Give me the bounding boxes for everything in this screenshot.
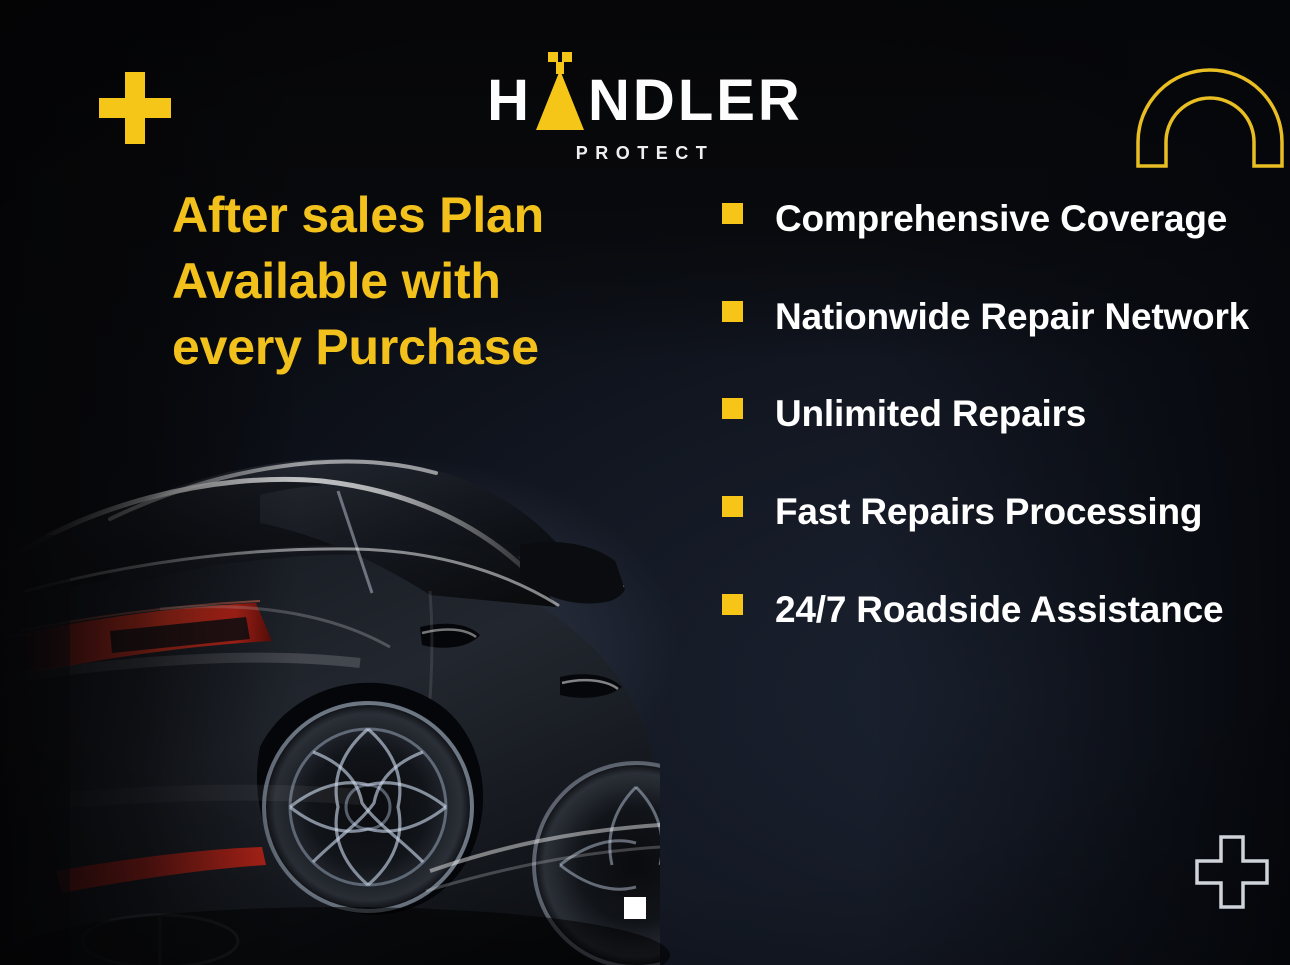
list-item: Nationwide Repair Network (722, 290, 1252, 344)
feature-label: Unlimited Repairs (775, 387, 1086, 441)
feature-label: Fast Repairs Processing (775, 485, 1202, 539)
list-item: Comprehensive Coverage (722, 192, 1252, 246)
logo-text-before: H (487, 72, 532, 130)
logo-a-umlaut-icon (534, 72, 586, 130)
promo-banner: H NDLER PROTECT After sales Plan Availab… (0, 0, 1290, 965)
feature-list: Comprehensive Coverage Nationwide Repair… (722, 192, 1252, 636)
bullet-square-icon (722, 203, 743, 224)
list-item: Unlimited Repairs (722, 387, 1252, 441)
square-solid-icon (624, 897, 646, 919)
plus-outline-icon (1194, 834, 1270, 910)
bullet-square-icon (722, 594, 743, 615)
list-item: 24/7 Roadside Assistance (722, 583, 1252, 637)
list-item: Fast Repairs Processing (722, 485, 1252, 539)
logo-subtitle: PROTECT (0, 143, 1290, 164)
headline-line-3: every Purchase (172, 314, 672, 380)
bullet-square-icon (722, 301, 743, 322)
logo-text-after: NDLER (588, 72, 803, 130)
bullet-square-icon (722, 398, 743, 419)
page-title: After sales Plan Available with every Pu… (172, 182, 672, 380)
logo-wordmark: H NDLER (487, 72, 803, 130)
feature-label: Nationwide Repair Network (775, 290, 1249, 344)
bullet-square-icon (722, 496, 743, 517)
headline-line-1: After sales Plan (172, 182, 672, 248)
brand-logo: H NDLER PROTECT (0, 72, 1290, 164)
feature-label: Comprehensive Coverage (775, 192, 1227, 246)
headline-line-2: Available with (172, 248, 672, 314)
feature-label: 24/7 Roadside Assistance (775, 583, 1223, 637)
